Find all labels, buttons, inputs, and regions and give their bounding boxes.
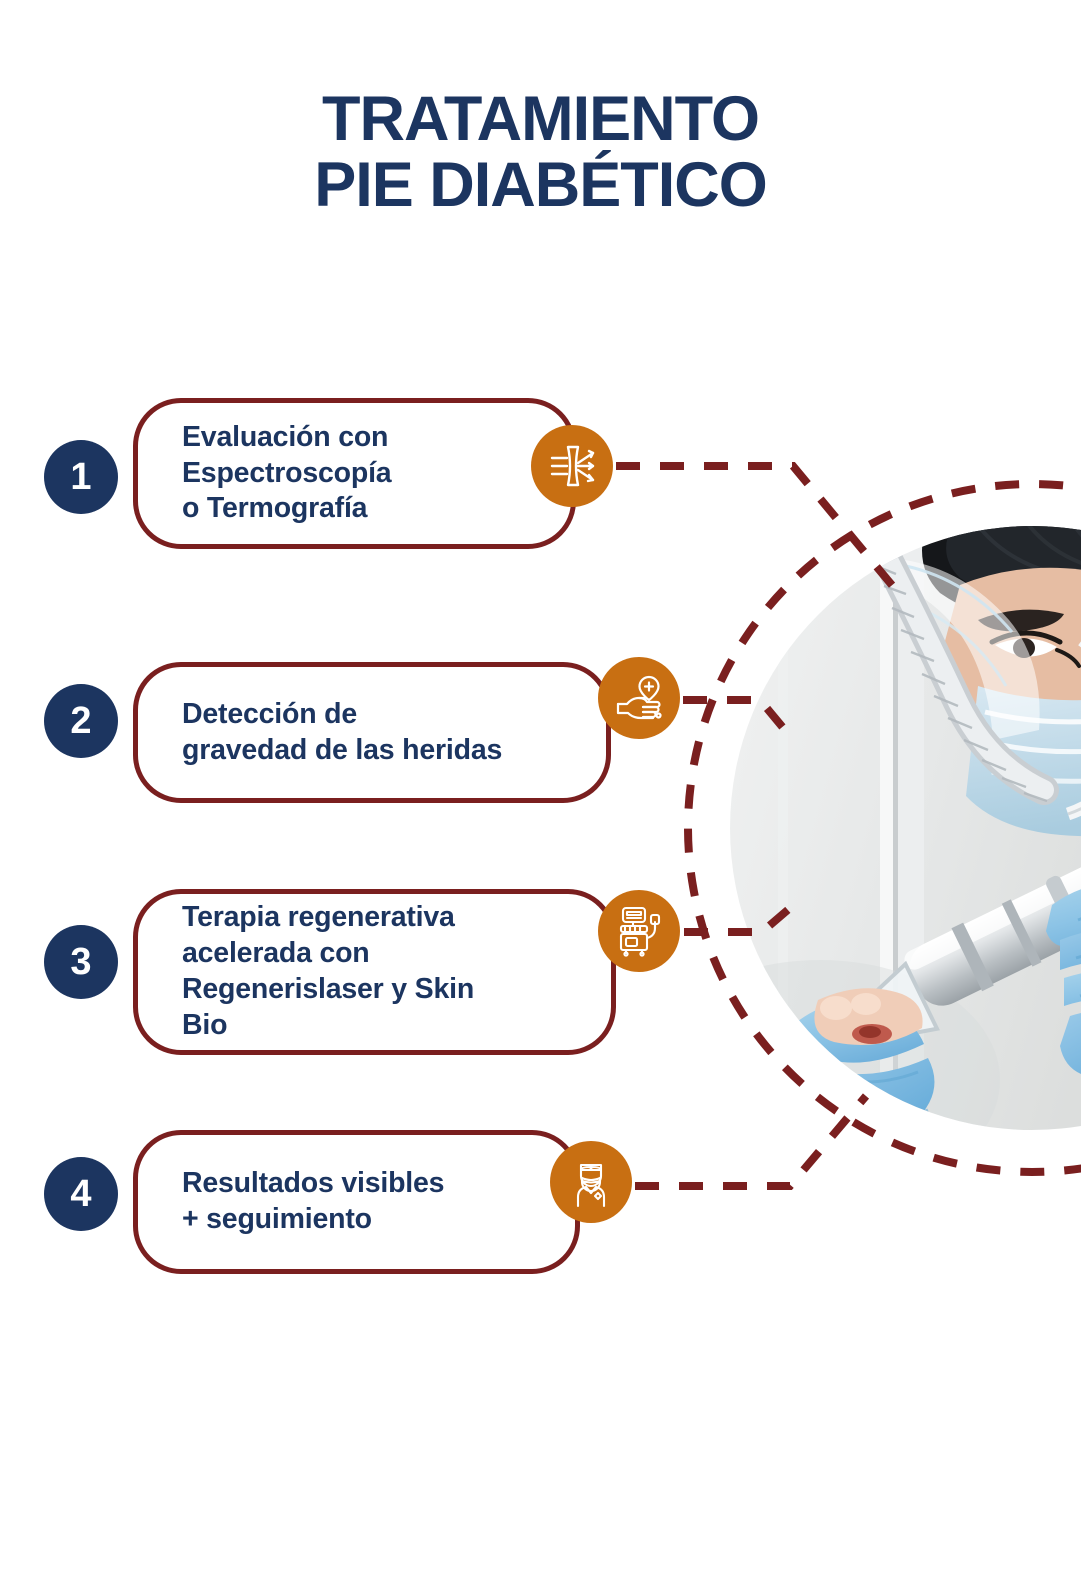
step-number-4: 4: [70, 1175, 91, 1213]
connector-3: [684, 908, 790, 932]
treatment-photo: [640, 472, 1081, 1290]
dashed-ring: [688, 484, 1081, 1172]
step-label-4: Resultados visibles + seguimiento: [138, 1166, 540, 1238]
laser-machine-icon: [598, 890, 680, 972]
page-title: TRATAMIENTO PIE DIABÉTICO: [0, 86, 1081, 218]
connector-2: [683, 700, 790, 736]
step-number-badge-3: 3: [44, 925, 118, 999]
nurse-icon: [550, 1141, 632, 1223]
step-label-2: Detección de gravedad de las heridas: [138, 697, 598, 769]
step-number-1: 1: [70, 458, 91, 496]
title-line-1: TRATAMIENTO: [0, 86, 1081, 152]
step-number-badge-4: 4: [44, 1157, 118, 1231]
step-label-1: Evaluación con Espectroscopía o Termogra…: [138, 420, 487, 528]
spectroscopy-prism-icon: [531, 425, 613, 507]
step-number-3: 3: [70, 943, 91, 981]
connector-1: [616, 466, 896, 590]
step-number-badge-2: 2: [44, 684, 118, 758]
title-line-2: PIE DIABÉTICO: [0, 152, 1081, 218]
step-box-3[interactable]: Terapia regenerativa acelerada con Regen…: [133, 889, 616, 1055]
hand-medical-pin-icon: [598, 657, 680, 739]
step-box-1[interactable]: Evaluación con Espectroscopía o Termogra…: [133, 398, 576, 549]
step-label-3: Terapia regenerativa acelerada con Regen…: [138, 900, 611, 1044]
connector-4: [635, 1096, 866, 1186]
step-box-2[interactable]: Detección de gravedad de las heridas: [133, 662, 611, 803]
step-number-badge-1: 1: [44, 440, 118, 514]
step-number-2: 2: [70, 702, 91, 740]
step-box-4[interactable]: Resultados visibles + seguimiento: [133, 1130, 580, 1274]
